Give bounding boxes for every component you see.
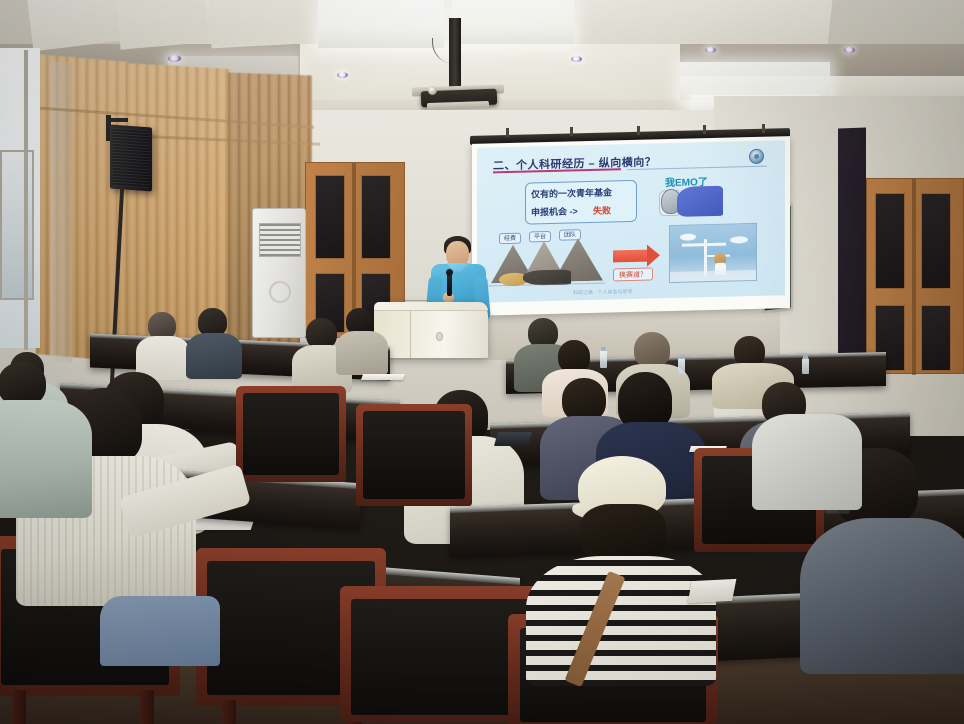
laptop[interactable] bbox=[494, 432, 532, 446]
lecture-hall-photo: 二、个人科研经历 – 纵向横向？ 仅有的一次青年基金 申报机会 -> 失败 我E… bbox=[0, 0, 964, 724]
ceiling-fin bbox=[116, 0, 209, 50]
attendee-torso bbox=[186, 333, 242, 379]
door-right[interactable] bbox=[866, 178, 964, 374]
slide-footer: 科研之路 · 个人体会与思考 bbox=[573, 288, 632, 296]
water-bottle bbox=[678, 358, 685, 374]
slide-tag: 平台 bbox=[529, 231, 551, 243]
slide-textbox-line-1: 仅有的一次青年基金 bbox=[531, 185, 612, 200]
screen-hook bbox=[637, 126, 640, 135]
attendee-legs bbox=[100, 596, 220, 666]
screen-hook bbox=[506, 128, 509, 137]
spotlight bbox=[168, 55, 181, 62]
wall-speaker bbox=[110, 125, 152, 192]
cloud-icon bbox=[730, 236, 748, 243]
screen-hook bbox=[762, 124, 765, 133]
ac-vent-grille bbox=[259, 223, 301, 257]
projector-lens bbox=[428, 86, 437, 95]
door-center-stile bbox=[912, 179, 916, 375]
spotlight bbox=[337, 72, 348, 78]
bottle-cap bbox=[601, 347, 606, 351]
cartoon-blanket bbox=[677, 186, 723, 217]
spotlight bbox=[705, 47, 716, 53]
slide-arrow-label: 换赛道？ bbox=[613, 267, 653, 281]
university-emblem-icon bbox=[749, 149, 764, 164]
photo-ground bbox=[670, 270, 756, 282]
door-panel bbox=[361, 175, 391, 259]
attendee-torso bbox=[336, 331, 388, 375]
attendee-torso bbox=[0, 400, 92, 518]
podium-top-surface bbox=[374, 302, 488, 311]
slide-photo bbox=[669, 223, 757, 283]
slide-textbox-line-2-result: 失败 bbox=[593, 203, 611, 216]
handout-paper bbox=[361, 374, 405, 380]
attendee-head bbox=[618, 372, 672, 428]
slide-tag: 经费 bbox=[499, 233, 521, 245]
wall-dark-column bbox=[838, 128, 866, 379]
air-conditioner bbox=[252, 208, 306, 338]
window-pane bbox=[0, 150, 34, 300]
presentation-slide: 二、个人科研经历 – 纵向横向？ 仅有的一次青年基金 申报机会 -> 失败 我E… bbox=[477, 140, 785, 303]
attendee-torso bbox=[800, 518, 964, 674]
screen-hook bbox=[570, 127, 573, 136]
ceiling-light-panel bbox=[452, 0, 574, 44]
speaker-grille bbox=[113, 128, 149, 189]
chair-leg bbox=[222, 700, 236, 724]
slide-textbox-line-2-prefix: 申报机会 -> bbox=[531, 204, 578, 218]
ac-fan-circle bbox=[269, 281, 291, 303]
chair-leg bbox=[140, 690, 154, 724]
chair-seat-back bbox=[363, 411, 465, 499]
slide-arrow-head bbox=[647, 244, 660, 266]
chair-seat-back bbox=[243, 393, 339, 475]
water-bottle bbox=[600, 350, 607, 368]
ceiling-light-panel bbox=[318, 0, 444, 48]
fence-rail bbox=[682, 243, 726, 247]
microphone-capsule bbox=[446, 269, 453, 276]
spotlight bbox=[571, 56, 582, 62]
podium bbox=[374, 302, 488, 358]
cloud-icon bbox=[680, 233, 696, 240]
attendee-head bbox=[634, 332, 670, 368]
sheer-curtain bbox=[50, 61, 72, 363]
water-bottle bbox=[802, 358, 809, 374]
chair-seat-back bbox=[351, 599, 529, 715]
door-panel bbox=[315, 175, 345, 259]
projector-mount-pole bbox=[449, 18, 461, 90]
podium-seam bbox=[410, 311, 411, 358]
window-mullion bbox=[24, 50, 28, 350]
attendee-torso bbox=[752, 414, 862, 510]
bottle-cap bbox=[803, 355, 808, 359]
door-panel bbox=[921, 305, 951, 371]
bottle-cap bbox=[679, 355, 684, 359]
door-panel bbox=[875, 193, 905, 289]
ceiling-fin bbox=[209, 0, 302, 48]
chair-leg bbox=[12, 690, 26, 724]
projection-screen: 二、个人科研经历 – 纵向横向？ 仅有的一次青年基金 申报机会 -> 失败 我E… bbox=[472, 136, 790, 316]
spotlight bbox=[844, 47, 855, 53]
speaker-bracket bbox=[106, 118, 128, 122]
slide-arrow-shaft bbox=[613, 250, 647, 263]
handout-paper bbox=[688, 579, 737, 603]
chair[interactable] bbox=[356, 404, 472, 520]
chair[interactable] bbox=[236, 386, 346, 496]
podium-control-knob[interactable] bbox=[436, 332, 443, 341]
door-panel bbox=[921, 193, 951, 289]
screen-hook bbox=[703, 125, 706, 134]
